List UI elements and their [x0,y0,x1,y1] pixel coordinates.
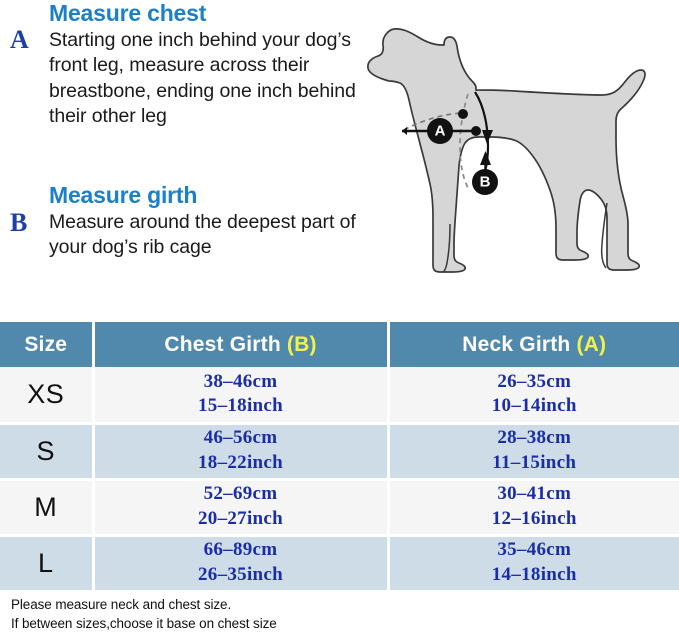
table-header-row: Size Chest Girth (B) Neck Girth (A) [0,322,679,367]
neck-inch-value: 12–16inch [391,507,679,532]
cell-size: S [0,423,93,479]
instruction-body-girth: Measure around the deepest part of your … [49,210,364,261]
chest-inch-value: 18–22inch [96,451,386,476]
neck-cm-value: 30–41cm [391,482,679,507]
cell-neck-girth: 26–35cm 10–14inch [388,367,679,423]
chest-inch-value: 20–27inch [96,507,386,532]
cell-neck-girth: 28–38cm 11–15inch [388,423,679,479]
column-header-chest-girth: Chest Girth (B) [93,322,388,367]
cell-chest-girth: 66–89cm 26–35inch [93,535,388,591]
table-row: L 66–89cm 26–35inch 35–46cm 14–18inch [0,535,679,591]
chest-inch-value: 15–18inch [96,394,386,419]
neck-inch-value: 11–15inch [391,451,679,476]
marker-badge-b-label: B [480,174,491,191]
chest-inch-value: 26–35inch [96,563,386,588]
table-row: XS 38–46cm 15–18inch 26–35cm 10–14inch [0,367,679,423]
dog-diagram: A B [362,18,677,318]
column-header-neck-girth: Neck Girth (A) [388,322,679,367]
instruction-heading-chest: Measure chest [49,0,206,27]
cell-neck-girth: 30–41cm 12–16inch [388,479,679,535]
chest-cm-value: 38–46cm [96,370,386,395]
neck-inch-value: 14–18inch [391,563,679,588]
footer-line-1: Please measure neck and chest size. [11,596,611,615]
neck-girth-code: (A) [576,333,606,356]
neck-cm-value: 35–46cm [391,538,679,563]
cell-chest-girth: 46–56cm 18–22inch [93,423,388,479]
instruction-heading-girth: Measure girth [49,182,197,209]
table-row: M 52–69cm 20–27inch 30–41cm 12–16inch [0,479,679,535]
footer-line-2: If between sizes,choose it base on chest… [11,615,611,634]
cell-neck-girth: 35–46cm 14–18inch [388,535,679,591]
chest-girth-text: Chest Girth [164,333,287,356]
cell-size: M [0,479,93,535]
girth-arrow-up-icon [480,151,491,165]
table-row: S 46–56cm 18–22inch 28–38cm 11–15inch [0,423,679,479]
chest-cm-value: 46–56cm [96,426,386,451]
neck-cm-value: 26–35cm [391,370,679,395]
chest-line-left-tip [402,127,407,135]
cell-chest-girth: 38–46cm 15–18inch [93,367,388,423]
chest-endpoint-dot-upper [458,109,468,119]
instruction-marker-b: B [10,210,27,236]
neck-cm-value: 28–38cm [391,426,679,451]
cell-chest-girth: 52–69cm 20–27inch [93,479,388,535]
neck-inch-value: 10–14inch [391,394,679,419]
chest-endpoint-dot-lower [471,126,481,136]
instructions-panel: A Measure chest Starting one inch behind… [0,0,370,318]
marker-badge-b: B [472,169,498,195]
marker-badge-a: A [427,118,453,144]
column-header-size: Size [0,322,93,367]
chest-girth-code: (B) [287,333,317,356]
size-chart-table: Size Chest Girth (B) Neck Girth (A) XS 3… [0,322,679,593]
neck-girth-text: Neck Girth [462,333,576,356]
instruction-body-chest: Starting one inch behind your dog’s fron… [49,28,364,129]
marker-badge-a-label: A [435,123,446,140]
chest-cm-value: 66–89cm [96,538,386,563]
cell-size: L [0,535,93,591]
footer-note: Please measure neck and chest size. If b… [11,596,611,633]
cell-size: XS [0,367,93,423]
chest-cm-value: 52–69cm [96,482,386,507]
instruction-marker-a: A [10,27,29,53]
